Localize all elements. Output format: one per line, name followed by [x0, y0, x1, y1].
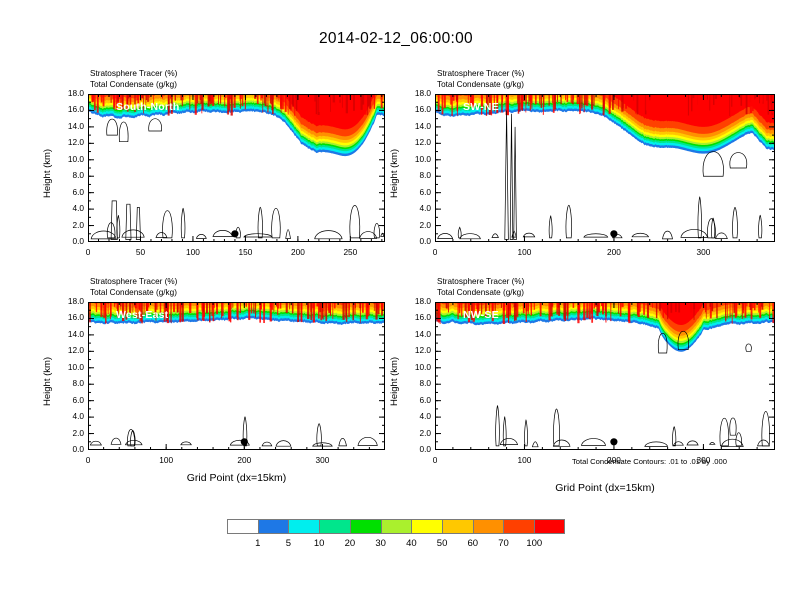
y-tick-label: 18.0 [403, 296, 431, 306]
panel-west-east [88, 302, 385, 450]
x-tick-label: 100 [506, 247, 542, 257]
x-tick-label: 200 [280, 247, 316, 257]
colorbar-cell [534, 519, 565, 534]
header-condensate-line: Total Condensate (g/kg) [90, 80, 177, 91]
x-tick-label: 0 [417, 247, 453, 257]
header-tracer-line: Stratosphere Tracer (%) [90, 69, 177, 78]
x-axis-title: Grid Point (dx=15km) [147, 472, 327, 484]
contour-interval-note: Total Condensate Contours: .01 to .01 by… [572, 457, 727, 466]
x-tick-label: 0 [417, 455, 453, 465]
y-tick-label: 16.0 [403, 312, 431, 322]
y-tick-label: 4.0 [56, 203, 84, 213]
colorbar-cell [503, 519, 534, 534]
plot-area-south-north [88, 94, 385, 242]
panel-header: Stratosphere Tracer (%)Total Condensate … [90, 277, 177, 298]
y-tick-label: 14.0 [403, 329, 431, 339]
y-tick-label: 6.0 [403, 187, 431, 197]
header-condensate-line: Total Condensate (g/kg) [437, 80, 524, 91]
y-tick-label: 12.0 [56, 137, 84, 147]
plot-area-west-east [88, 302, 385, 450]
y-tick-label: 8.0 [403, 170, 431, 180]
y-tick-label: 10.0 [56, 154, 84, 164]
y-tick-label: 16.0 [403, 104, 431, 114]
y-tick-label: 0.0 [56, 444, 84, 454]
x-axis-title: Grid Point (dx=15km) [515, 482, 695, 494]
y-tick-label: 2.0 [403, 220, 431, 230]
x-tick-label: 300 [304, 455, 340, 465]
x-tick-label: 100 [175, 247, 211, 257]
plot-area-sw-ne [435, 94, 775, 242]
y-tick-label: 4.0 [403, 203, 431, 213]
x-tick-label: 100 [506, 455, 542, 465]
y-tick-label: 18.0 [56, 296, 84, 306]
x-tick-label: 250 [332, 247, 368, 257]
colorbar-cell [319, 519, 350, 534]
colorbar-cell [350, 519, 381, 534]
colorbar-cell [473, 519, 504, 534]
x-tick-label: 200 [596, 247, 632, 257]
y-tick-label: 14.0 [403, 121, 431, 131]
colorbar-cell [227, 519, 258, 534]
header-tracer-line: Stratosphere Tracer (%) [437, 69, 524, 78]
x-tick-label: 100 [148, 455, 184, 465]
y-tick-label: 14.0 [56, 329, 84, 339]
y-tick-label: 0.0 [403, 444, 431, 454]
panel-header: Stratosphere Tracer (%)Total Condensate … [437, 69, 524, 90]
colorbar-cell [442, 519, 473, 534]
y-tick-label: 2.0 [56, 220, 84, 230]
x-tick-label: 50 [122, 247, 158, 257]
header-condensate-line: Total Condensate (g/kg) [437, 288, 524, 299]
y-tick-label: 10.0 [403, 362, 431, 372]
y-tick-label: 8.0 [403, 378, 431, 388]
y-tick-label: 16.0 [56, 312, 84, 322]
x-tick-label: 200 [226, 455, 262, 465]
y-tick-label: 16.0 [56, 104, 84, 114]
y-tick-label: 6.0 [56, 187, 84, 197]
page-title: 2014-02-12_06:00:00 [0, 30, 792, 48]
y-axis-title: Height (km) [42, 357, 53, 406]
y-tick-label: 10.0 [56, 362, 84, 372]
y-tick-label: 10.0 [403, 154, 431, 164]
panel-header: Stratosphere Tracer (%)Total Condensate … [90, 69, 177, 90]
y-tick-label: 8.0 [56, 170, 84, 180]
colorbar [227, 519, 565, 535]
y-tick-label: 14.0 [56, 121, 84, 131]
y-axis-title: Height (km) [42, 149, 53, 198]
x-tick-label: 300 [685, 247, 721, 257]
panel-nw-se [435, 302, 775, 450]
y-tick-label: 0.0 [56, 236, 84, 246]
header-condensate-line: Total Condensate (g/kg) [90, 288, 177, 299]
y-tick-label: 2.0 [56, 428, 84, 438]
plot-area-nw-se [435, 302, 775, 450]
y-tick-label: 6.0 [56, 395, 84, 405]
colorbar-cell [381, 519, 412, 534]
y-axis-title: Height (km) [389, 149, 400, 198]
colorbar-cell [258, 519, 289, 534]
header-tracer-line: Stratosphere Tracer (%) [90, 277, 177, 286]
x-tick-label: 150 [227, 247, 263, 257]
y-tick-label: 2.0 [403, 428, 431, 438]
y-tick-label: 18.0 [56, 88, 84, 98]
y-tick-label: 4.0 [403, 411, 431, 421]
x-tick-label: 0 [70, 455, 106, 465]
y-tick-label: 8.0 [56, 378, 84, 388]
colorbar-tick-label: 100 [514, 538, 554, 549]
header-tracer-line: Stratosphere Tracer (%) [437, 277, 524, 286]
colorbar-cell [411, 519, 442, 534]
y-tick-label: 4.0 [56, 411, 84, 421]
y-tick-label: 6.0 [403, 395, 431, 405]
y-tick-label: 12.0 [403, 137, 431, 147]
panel-south-north [88, 94, 385, 242]
y-axis-title: Height (km) [389, 357, 400, 406]
y-tick-label: 0.0 [403, 236, 431, 246]
location-marker [231, 230, 238, 237]
colorbar-cell [288, 519, 319, 534]
panel-sw-ne [435, 94, 775, 242]
panel-header: Stratosphere Tracer (%)Total Condensate … [437, 277, 524, 298]
y-tick-label: 12.0 [56, 345, 84, 355]
y-tick-label: 12.0 [403, 345, 431, 355]
y-tick-label: 18.0 [403, 88, 431, 98]
x-tick-label: 0 [70, 247, 106, 257]
